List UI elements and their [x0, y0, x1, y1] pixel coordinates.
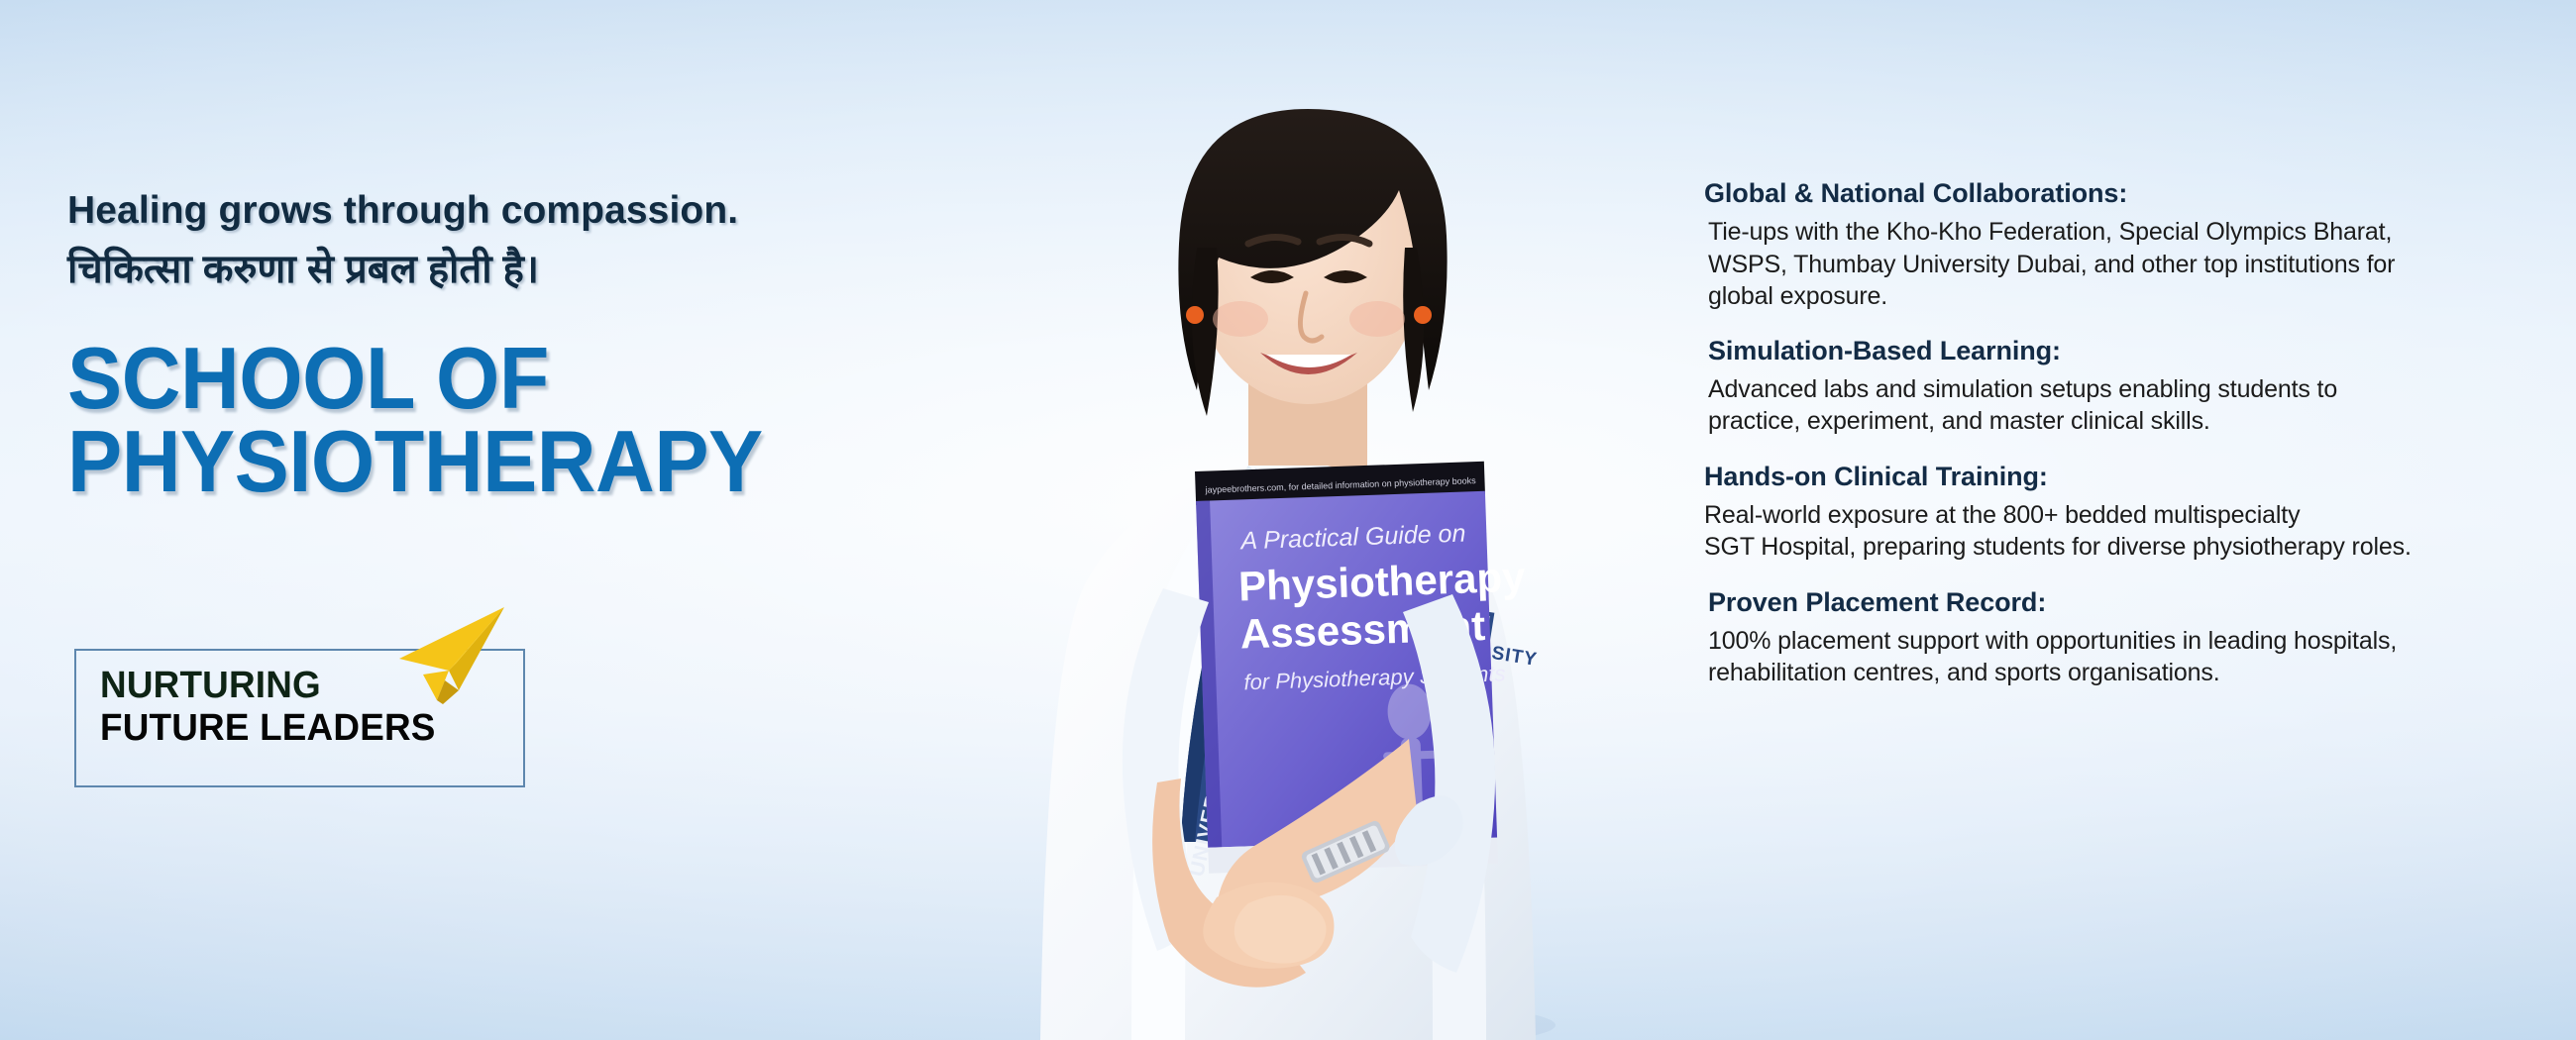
features-list: Global & National Collaborations: Tie-up… — [1704, 176, 2526, 702]
tagline-english: Healing grows through compassion. — [67, 188, 959, 234]
feature-item: Proven Placement Record: 100% placement … — [1704, 585, 2526, 689]
page-title: SCHOOL OF PHYSIOTHERAPY — [67, 337, 906, 502]
feature-body: Real-world exposure at the 800+ bedded m… — [1704, 499, 2526, 564]
badge-line-1: NURTURING — [100, 665, 436, 707]
feature-item: Global & National Collaborations: Tie-up… — [1704, 176, 2526, 313]
page-title-line1: SCHOOL OF — [67, 337, 906, 420]
feature-title: Hands-on Clinical Training: — [1704, 460, 2526, 494]
feature-body: 100% placement support with opportunitie… — [1708, 625, 2526, 689]
badge-text: NURTURING FUTURE LEADERS — [100, 665, 436, 749]
feature-title: Simulation-Based Learning: — [1708, 334, 2526, 368]
feature-title: Global & National Collaborations: — [1704, 176, 2526, 211]
left-content-column: Healing grows through compassion. चिकित्… — [67, 188, 959, 502]
feature-title: Proven Placement Record: — [1708, 585, 2526, 620]
feature-body: Advanced labs and simulation setups enab… — [1708, 373, 2526, 438]
feature-item: Hands-on Clinical Training: Real-world e… — [1704, 460, 2526, 564]
page-title-line2: PHYSIOTHERAPY — [67, 420, 906, 503]
hero-banner: Healing grows through compassion. चिकित्… — [0, 0, 2576, 1040]
student-photo: SGT UNIVERSITY UNIVERSITY SGT UNIVERSITY… — [951, 0, 1664, 1040]
paper-plane-icon — [393, 601, 512, 710]
feature-body: Tie-ups with the Kho-Kho Federation, Spe… — [1708, 216, 2526, 313]
badge-line-2: FUTURE LEADERS — [100, 707, 436, 750]
tagline-hindi: चिकित्सा करुणा से प्रबल होती है। — [67, 246, 959, 293]
feature-item: Simulation-Based Learning: Advanced labs… — [1704, 334, 2526, 438]
nurturing-future-leaders-badge: NURTURING FUTURE LEADERS — [74, 649, 525, 787]
